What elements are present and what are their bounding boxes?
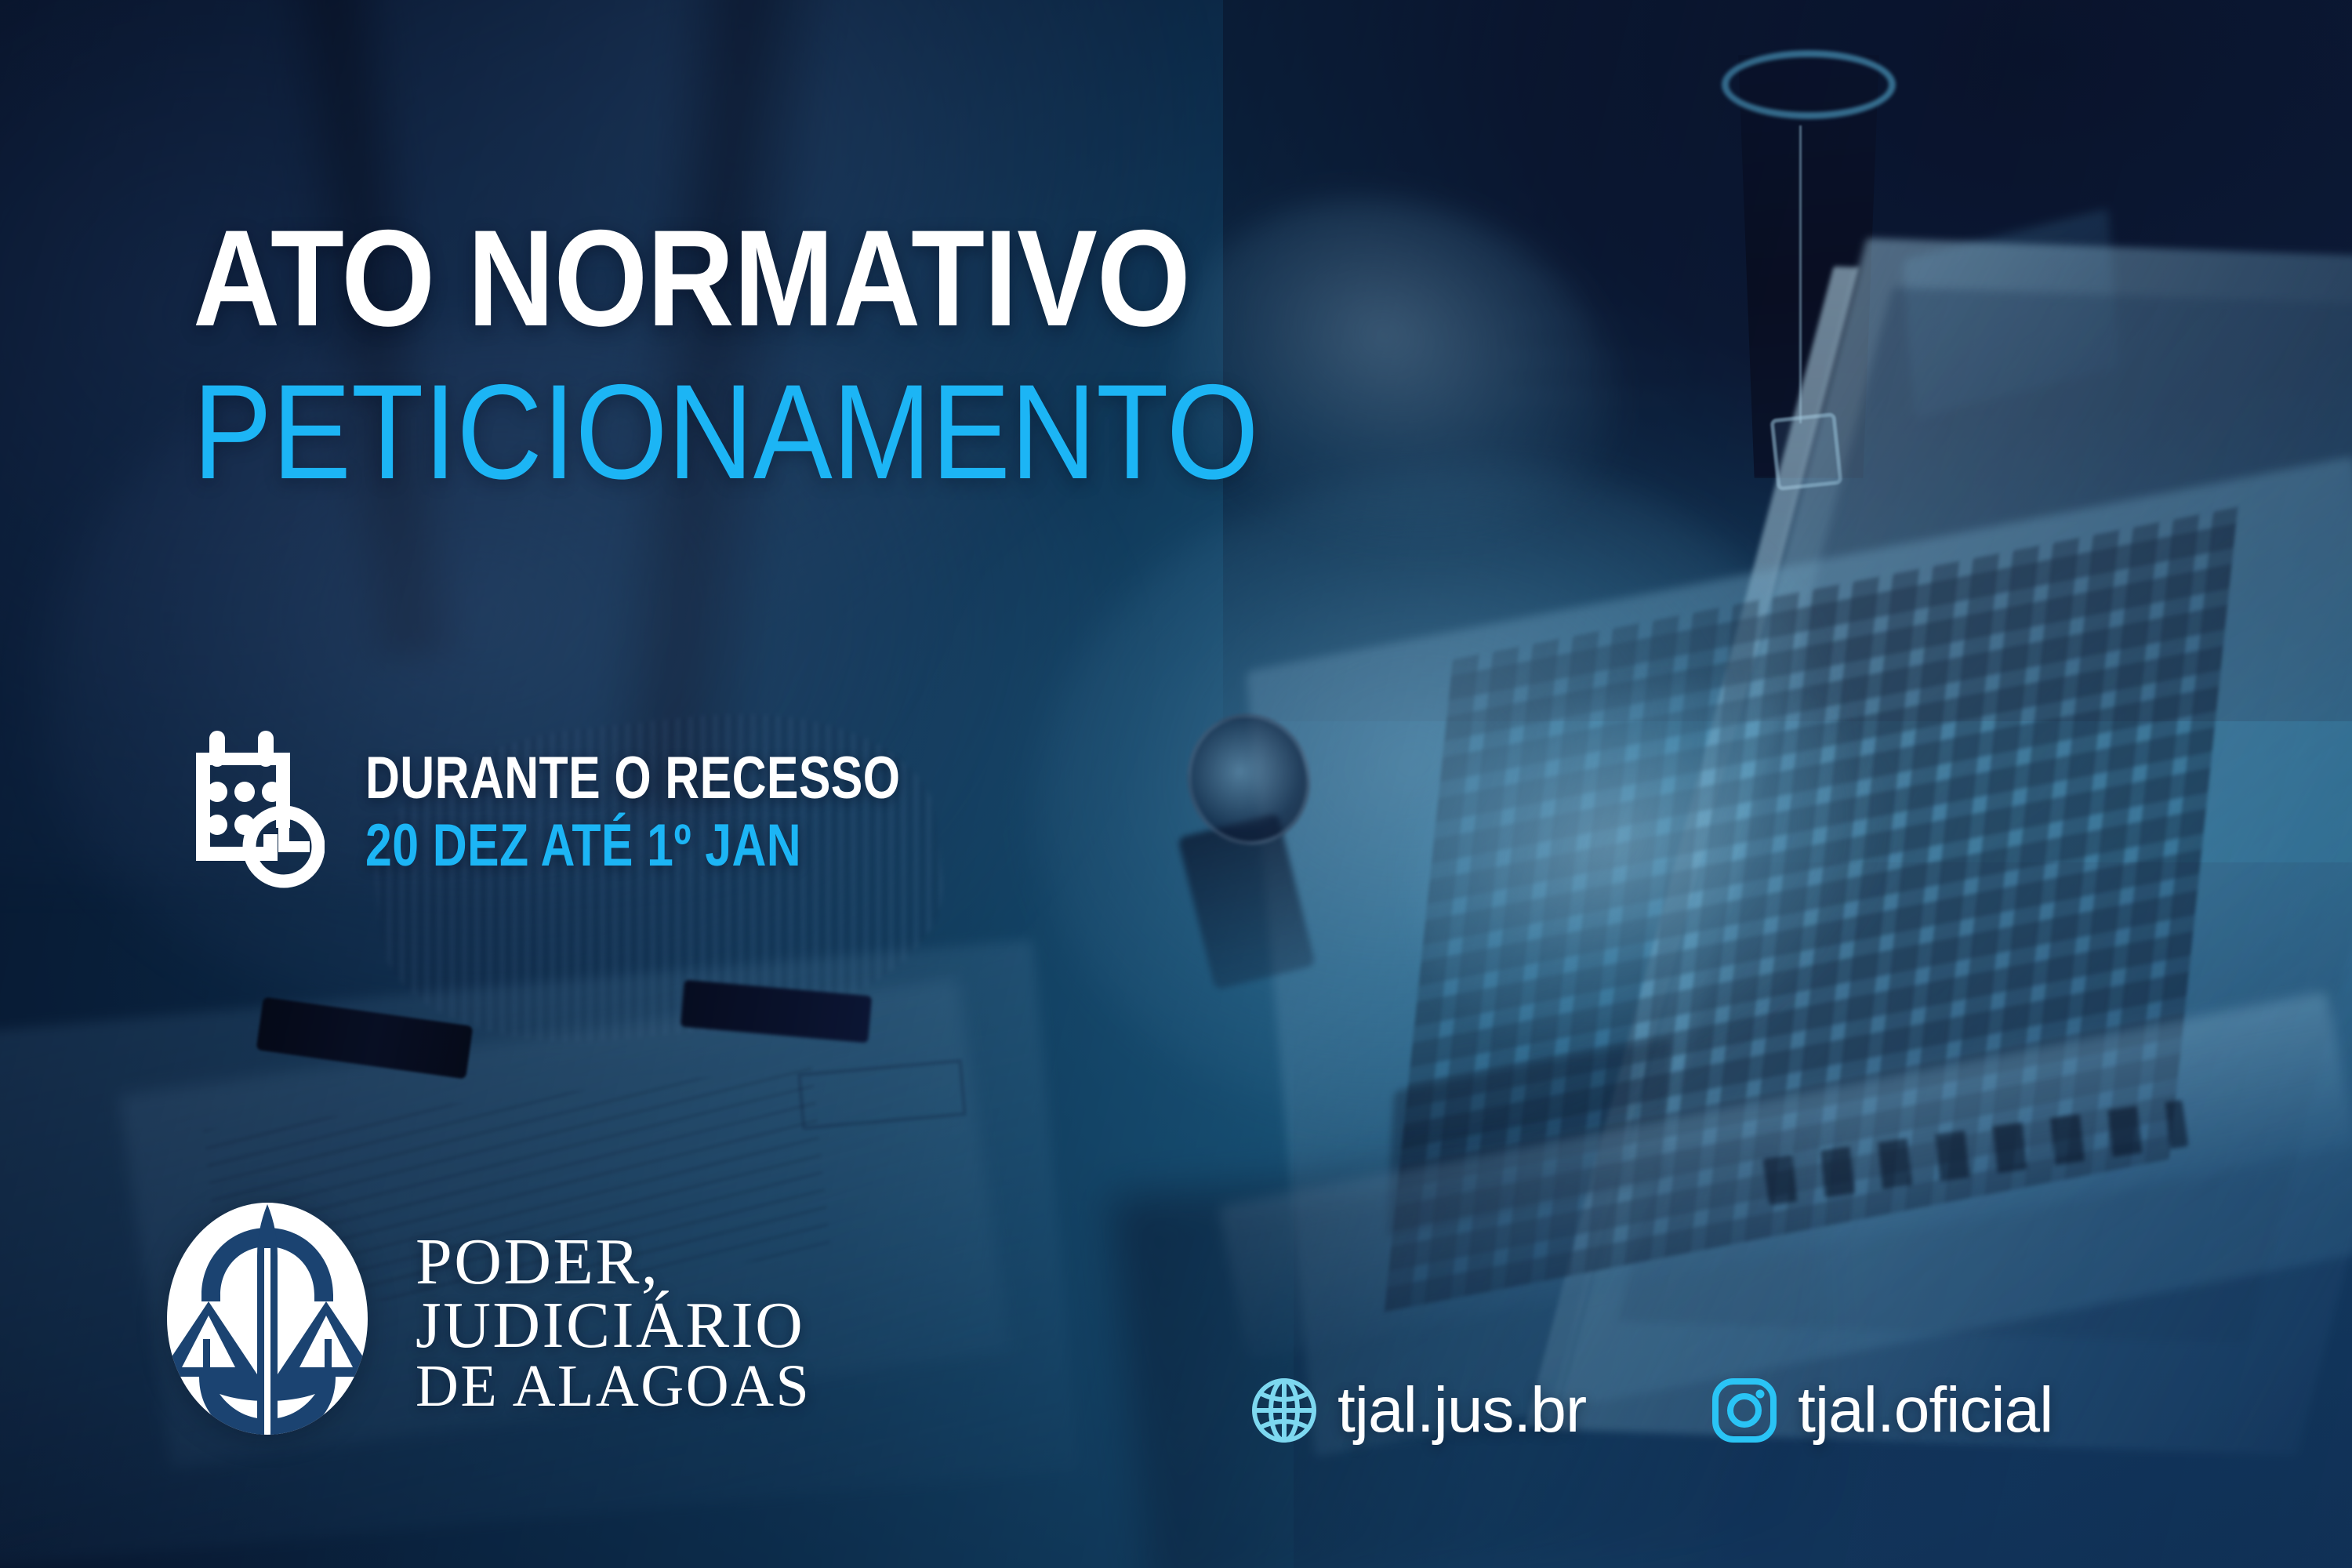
page-title: ATO NORMATIVO — [193, 210, 1259, 347]
tjal-scales-emblem-icon — [154, 1201, 381, 1444]
calendar-clock-icon — [185, 729, 325, 894]
recess-text: DURANTE O RECESSO 20 DEZ ATÉ 1º JAN — [365, 745, 1034, 878]
page-subtitle: PETICIONAMENTO — [193, 365, 1259, 499]
recess-dates: 20 DEZ ATÉ 1º JAN — [365, 814, 900, 878]
poster-content: ATO NORMATIVO PETICIONAMENTO — [0, 0, 2352, 1568]
footer-links: tjal.jus.br tjal.oficial — [1248, 1374, 2053, 1447]
recess-label: DURANTE O RECESSO — [365, 748, 900, 809]
brand-line-1: PODER, — [416, 1230, 811, 1294]
globe-icon — [1248, 1374, 1320, 1446]
brand-lockup: PODER, JUDICIÁRIO DE ALAGOAS — [154, 1201, 811, 1444]
brand-wordmark: PODER, JUDICIÁRIO DE ALAGOAS — [416, 1230, 811, 1416]
recess-period-block: DURANTE O RECESSO 20 DEZ ATÉ 1º JAN — [185, 729, 1034, 894]
instagram-label: tjal.oficial — [1798, 1374, 2053, 1447]
poster-canvas: ATO NORMATIVO PETICIONAMENTO — [0, 0, 2352, 1568]
instagram-icon — [1708, 1374, 1780, 1446]
website-label: tjal.jus.br — [1338, 1374, 1586, 1447]
instagram-link[interactable]: tjal.oficial — [1708, 1374, 2053, 1447]
brand-line-3: DE ALAGOAS — [416, 1358, 811, 1416]
headline-block: ATO NORMATIVO PETICIONAMENTO — [193, 210, 1404, 499]
website-link[interactable]: tjal.jus.br — [1248, 1374, 1586, 1447]
brand-line-2: JUDICIÁRIO — [416, 1294, 811, 1357]
